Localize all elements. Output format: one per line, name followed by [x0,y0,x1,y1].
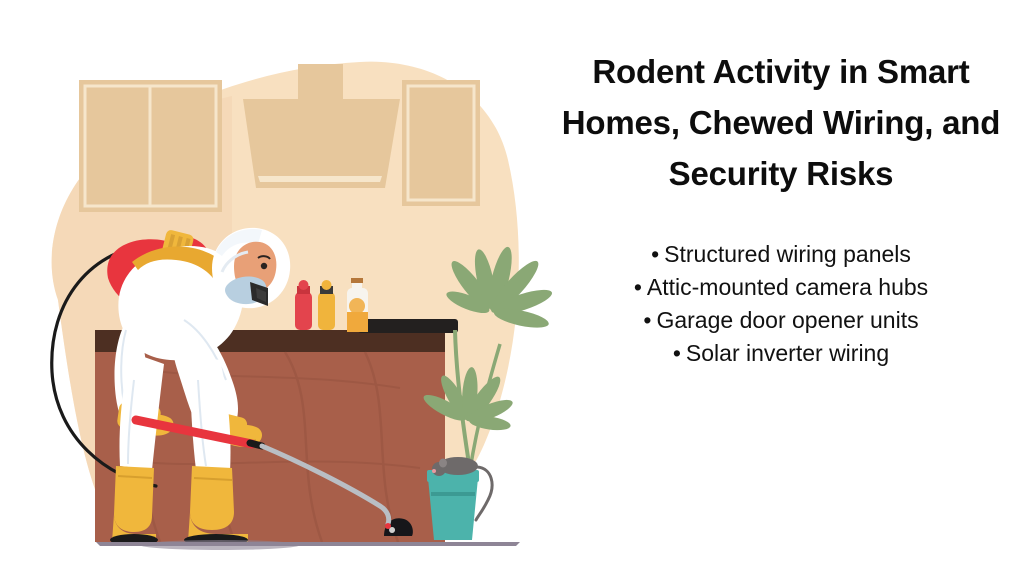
bullet-marker-icon: • [651,238,659,271]
bullet-list: •Structured wiring panels •Attic-mounted… [548,238,1014,370]
list-item: •Structured wiring panels [548,238,1014,271]
list-item: •Garage door opener units [548,304,1014,337]
bullet-marker-icon: • [643,304,651,337]
list-item-label: Structured wiring panels [664,241,911,267]
page-title: Rodent Activity in Smart Homes, Chewed W… [548,46,1014,199]
right-upper-cabinet [402,80,480,206]
text-panel: Rodent Activity in Smart Homes, Chewed W… [548,0,1014,576]
teal-bucket [427,470,479,540]
list-item-label: Garage door opener units [656,307,918,333]
stovetop-tray [358,319,458,333]
bullet-marker-icon: • [634,271,642,304]
yellow-bottle [318,280,335,330]
illustration-exterminator-kitchen [0,0,576,576]
list-item: •Solar inverter wiring [548,337,1014,370]
list-item-label: Solar inverter wiring [686,340,889,366]
list-item-label: Attic-mounted camera hubs [647,274,928,300]
list-item: •Attic-mounted camera hubs [548,271,1014,304]
boot-rear [110,466,158,546]
red-bottle [295,280,312,330]
slide-canvas: Rodent Activity in Smart Homes, Chewed W… [0,0,1024,576]
bullet-marker-icon: • [673,337,681,370]
left-upper-cabinet [79,80,222,212]
